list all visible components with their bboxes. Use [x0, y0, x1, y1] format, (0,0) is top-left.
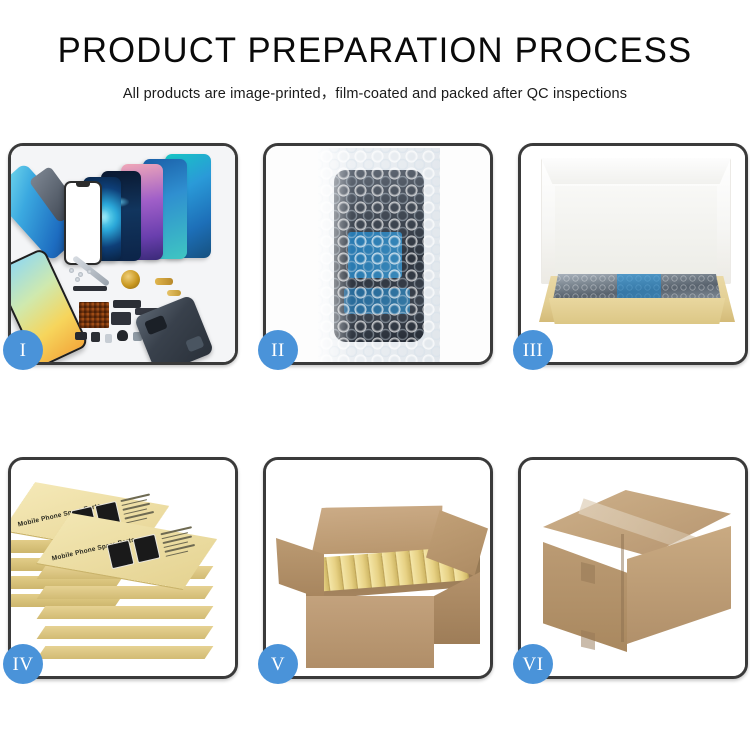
process-step-3-image [521, 146, 745, 362]
process-step-1-image [11, 146, 235, 362]
process-step-2-image [266, 146, 490, 362]
page-title: PRODUCT PREPARATION PROCESS [4, 32, 747, 71]
page-subtitle: All products are image-printed，film-coat… [0, 82, 750, 103]
process-step-6-image [521, 460, 745, 676]
process-step-4[interactable]: Mobile Phone Spare Parts Mobile Phone Sp… [8, 457, 238, 679]
spare-parts-group [69, 268, 235, 362]
process-step-4-image: Mobile Phone Spare Parts Mobile Phone Sp… [11, 460, 235, 676]
step-badge-4: IV [3, 644, 43, 684]
step-badge-2: II [258, 330, 298, 370]
process-step-6[interactable]: VI [518, 457, 748, 679]
process-step-1[interactable]: I [8, 143, 238, 365]
phone-display-fan [61, 152, 235, 267]
bubble-wrap-bag [318, 148, 440, 362]
retail-box-top-front: Mobile Phone Spare Parts [45, 526, 209, 576]
process-grid: I II III [8, 143, 748, 679]
step-badge-3: III [513, 330, 553, 370]
step-badge-6: VI [513, 644, 553, 684]
process-step-2[interactable]: II [263, 143, 493, 365]
inner-box-lid [541, 158, 731, 284]
process-step-5-image [266, 460, 490, 676]
step-badge-5: V [258, 644, 298, 684]
carton-front-face [306, 596, 434, 668]
step-badge-1: I [3, 330, 43, 370]
process-step-3[interactable]: III [518, 143, 748, 365]
boxed-wrapped-product [553, 274, 721, 300]
phone-back-housing [134, 295, 215, 362]
process-step-5[interactable]: V [263, 457, 493, 679]
header: PRODUCT PREPARATION PROCESS All products… [0, 0, 750, 103]
